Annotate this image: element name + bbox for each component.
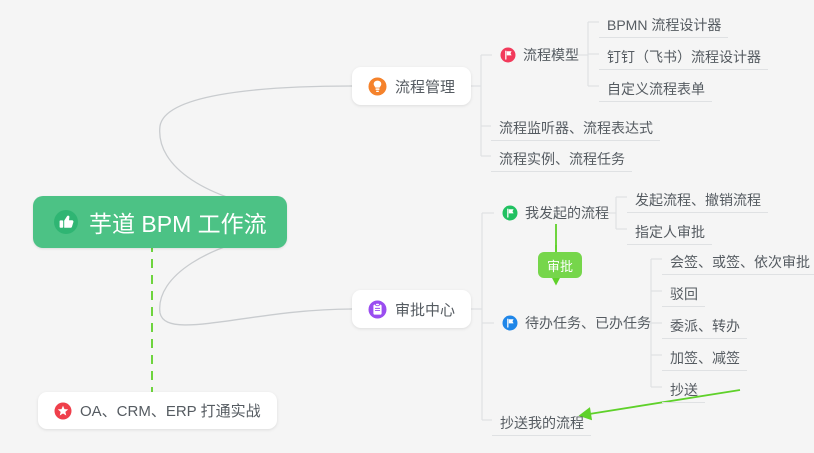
node-label-todo-done-task: 待办任务、已办任务 <box>525 316 651 330</box>
root-label: 芋道 BPM 工作流 <box>89 205 267 239</box>
node-label-reject: 驳回 <box>670 287 698 301</box>
node-countersign[interactable]: 会签、或签、依次审批 <box>662 245 814 275</box>
branch-node-approval-center[interactable]: 审批中心 <box>352 290 471 328</box>
mindmap-canvas: 芋道 BPM 工作流 OA、CRM、ERP 打通实战 流程管理 <box>0 0 814 453</box>
lightbulb-icon <box>368 77 387 96</box>
approval-tag-label: 审批 <box>547 256 573 275</box>
node-assignee-approval[interactable]: 指定人审批 <box>627 215 712 245</box>
star-icon <box>54 402 72 420</box>
node-reject[interactable]: 驳回 <box>662 277 705 307</box>
node-label-delegate-transfer: 委派、转办 <box>670 319 740 333</box>
branch-label-approval-center: 审批中心 <box>395 299 455 320</box>
flag-icon <box>500 47 516 63</box>
edge-root-to-process-management <box>160 86 352 210</box>
flag-icon <box>502 315 518 331</box>
thumbs-up-icon <box>53 209 79 235</box>
node-todo-done-task[interactable]: 待办任务、已办任务 <box>494 308 658 338</box>
node-label-listener-expression: 流程监听器、流程表达式 <box>499 121 653 135</box>
node-label-dingtalk-feishu-designer: 钉钉（飞书）流程设计器 <box>607 50 761 64</box>
node-label-countersign: 会签、或签、依次审批 <box>670 255 810 269</box>
node-dingtalk-feishu-designer[interactable]: 钉钉（飞书）流程设计器 <box>599 40 768 70</box>
branch-node-process-management[interactable]: 流程管理 <box>352 67 471 105</box>
root-node[interactable]: 芋道 BPM 工作流 <box>33 196 287 248</box>
node-label-add-remove-sign: 加签、减签 <box>670 351 740 365</box>
flag-icon <box>502 205 518 221</box>
node-delegate-transfer[interactable]: 委派、转办 <box>662 309 747 339</box>
node-label-bpmn-designer: BPMN 流程设计器 <box>607 18 721 32</box>
branch-label-process-management: 流程管理 <box>395 76 455 97</box>
node-label-assignee-approval: 指定人审批 <box>635 225 705 239</box>
clipboard-icon <box>368 300 387 319</box>
approval-tag[interactable]: 审批 <box>538 252 582 278</box>
node-label-instance-task: 流程实例、流程任务 <box>499 152 625 166</box>
callout-label: OA、CRM、ERP 打通实战 <box>80 400 261 421</box>
node-start-cancel-process[interactable]: 发起流程、撤销流程 <box>627 183 768 213</box>
node-label-custom-process-form: 自定义流程表单 <box>607 82 705 96</box>
node-label-my-started-process: 我发起的流程 <box>525 206 609 220</box>
node-label-process-model: 流程模型 <box>523 48 579 62</box>
node-label-cc-to-me: 抄送我的流程 <box>500 416 584 430</box>
node-process-model[interactable]: 流程模型 <box>492 40 586 70</box>
node-listener-expression[interactable]: 流程监听器、流程表达式 <box>491 111 660 141</box>
node-custom-process-form[interactable]: 自定义流程表单 <box>599 72 712 102</box>
callout-node-oa-crm-erp[interactable]: OA、CRM、ERP 打通实战 <box>38 392 277 429</box>
node-my-started-process[interactable]: 我发起的流程 <box>494 198 616 228</box>
node-cc-to-me[interactable]: 抄送我的流程 <box>492 406 591 436</box>
node-add-remove-sign[interactable]: 加签、减签 <box>662 341 747 371</box>
node-label-start-cancel-process: 发起流程、撤销流程 <box>635 193 761 207</box>
node-cc[interactable]: 抄送 <box>662 373 705 403</box>
node-label-cc: 抄送 <box>670 383 698 397</box>
node-bpmn-designer[interactable]: BPMN 流程设计器 <box>599 8 728 38</box>
node-instance-task[interactable]: 流程实例、流程任务 <box>491 142 632 172</box>
